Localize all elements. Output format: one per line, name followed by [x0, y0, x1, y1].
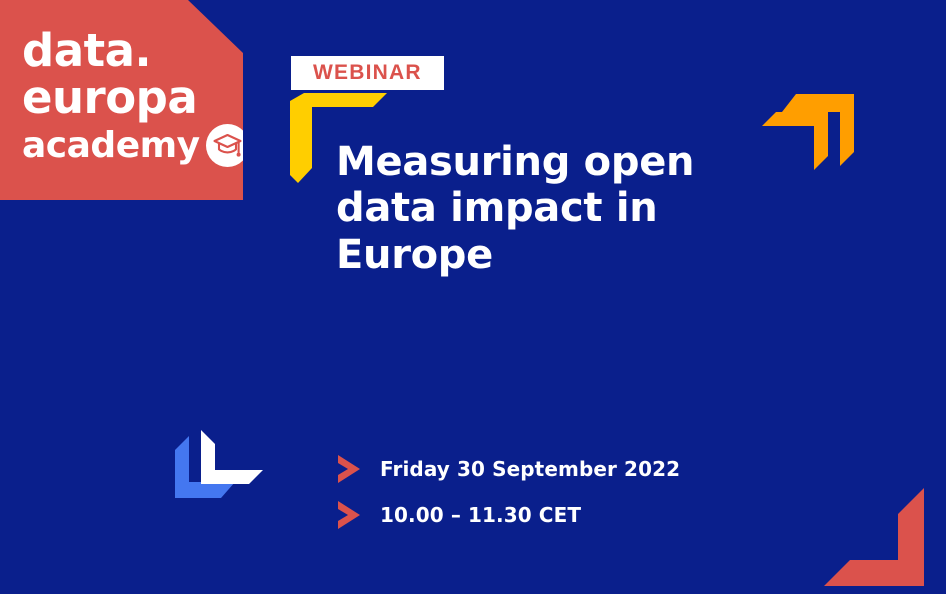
logo-line-data: data.	[22, 28, 232, 73]
blue-white-nested-brackets-icon	[175, 430, 263, 498]
event-details: Friday 30 September 2022 10.00 – 11.30 C…	[336, 446, 680, 538]
logo-line-academy-row: academy	[22, 124, 232, 167]
logo-line-europa: europa	[22, 75, 232, 120]
chevron-right-icon	[336, 501, 362, 529]
event-time-text: 10.00 – 11.30 CET	[380, 503, 581, 527]
logo-wordmark: data. europa academy	[22, 28, 232, 167]
event-date-text: Friday 30 September 2022	[380, 457, 680, 481]
graduation-cap-icon	[206, 124, 249, 167]
data-europa-academy-logo-block: data. europa academy	[0, 0, 243, 200]
webinar-badge: WEBINAR	[291, 56, 444, 90]
detail-row-time: 10.00 – 11.30 CET	[336, 492, 680, 538]
detail-row-date: Friday 30 September 2022	[336, 446, 680, 492]
page-title: Measuring open data impact in Europe	[336, 139, 766, 278]
chevron-right-icon	[336, 455, 362, 483]
webinar-promo-banner: data. europa academy WEBINAR	[0, 0, 946, 594]
logo-line-academy: academy	[22, 128, 200, 164]
orange-nested-brackets-icon	[762, 94, 854, 170]
red-corner-bracket-icon	[824, 488, 946, 594]
